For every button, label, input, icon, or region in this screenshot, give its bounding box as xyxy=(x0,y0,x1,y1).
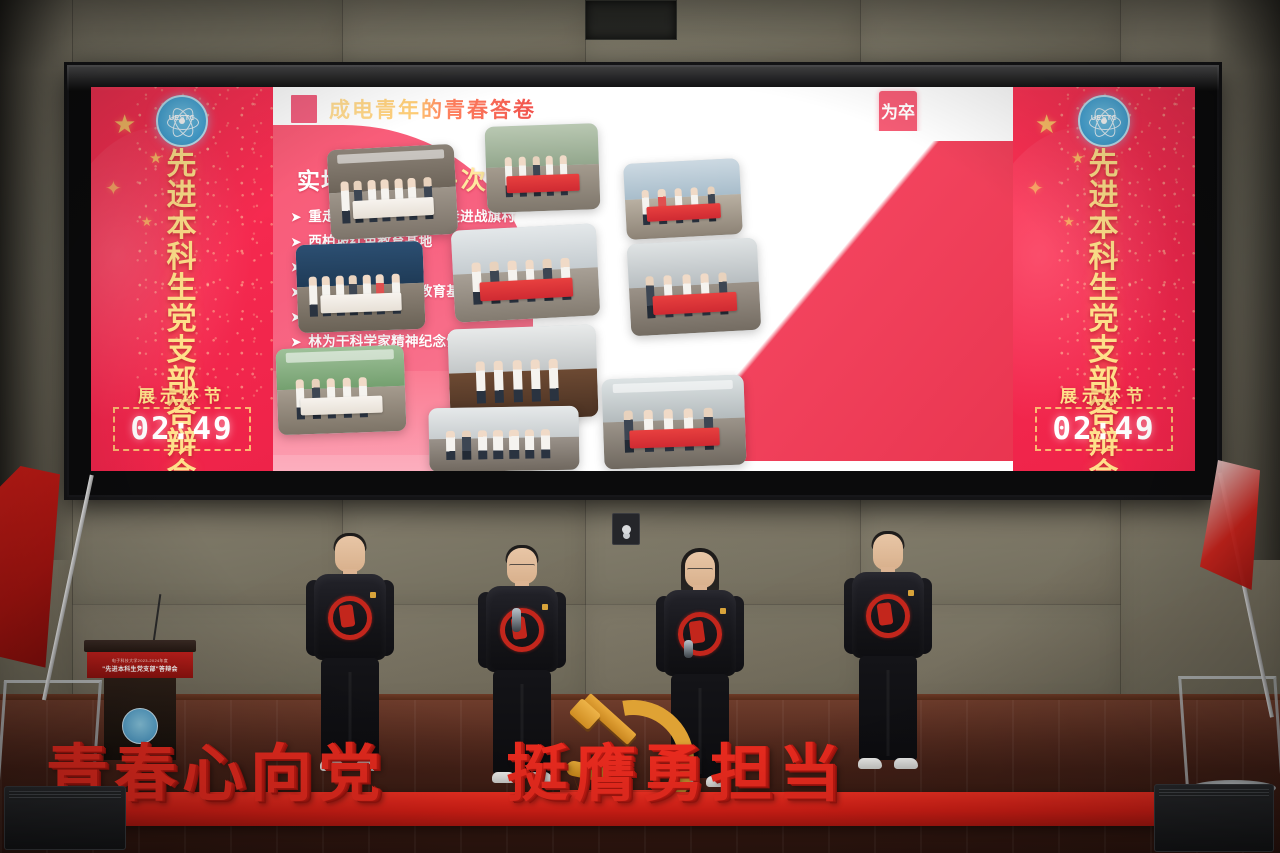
wall-camera-icon xyxy=(612,513,640,545)
uestc-logo-text: UESTC xyxy=(1080,115,1128,122)
sweatshirt-logo-icon xyxy=(500,608,544,652)
collage-photo xyxy=(485,123,601,213)
slide-header-title: 成电青年的青春答卷 xyxy=(329,94,536,124)
banner-left: ★ ★ ✦ ★ UESTC 先 进 本 科 生 党 xyxy=(91,87,273,471)
podium-sign: 电子科技大学2023-2024年度 "先进本科生党支部"答辩会 xyxy=(87,652,193,678)
collage-photo xyxy=(623,158,743,240)
collage-photo xyxy=(327,144,459,241)
photo-collage xyxy=(273,131,1013,471)
led-screen[interactable]: ★ ★ ✦ ★ UESTC 先 进 本 科 生 党 xyxy=(64,62,1222,500)
slogan-char: 当 xyxy=(778,743,840,805)
glasses-icon xyxy=(687,568,713,576)
collage-photo xyxy=(627,238,762,337)
banner-subtitle-right: 展示环节 xyxy=(1013,382,1195,407)
podium-sign-line2: "先进本科生党支部"答辩会 xyxy=(102,664,178,673)
glasses-icon xyxy=(509,564,535,572)
slogan-char: 向 xyxy=(250,743,312,805)
sweatshirt-logo-icon xyxy=(866,594,910,638)
party-pin-icon xyxy=(542,604,548,610)
stage-slogan: 青 春 心 向 党 挺 膺 勇 担 当 xyxy=(46,735,1226,805)
sweatshirt-logo-icon xyxy=(328,596,372,640)
slogan-char: 心 xyxy=(182,743,244,805)
party-pin-icon xyxy=(908,590,914,596)
banner-subtitle-left: 展示环节 xyxy=(91,382,273,407)
collage-photo xyxy=(451,223,601,322)
flag-cloth xyxy=(1200,460,1260,590)
collage-photo xyxy=(296,241,426,333)
handheld-microphone xyxy=(512,608,521,632)
slide-body: 实地研学 10+次 ➤ 重走习近平总书记足迹走进战旗村 ➤ 西柏坡红色教育基地 xyxy=(273,131,1013,471)
red-seal-icon: 为卒 xyxy=(879,91,917,135)
collage-photo xyxy=(601,375,746,470)
star-icon: ★ xyxy=(113,111,136,137)
slogan-char: 膺 xyxy=(574,743,636,805)
slogan-char: 勇 xyxy=(642,743,704,805)
ceiling-shadow xyxy=(0,0,1280,70)
party-pin-icon xyxy=(370,592,376,598)
countdown-timer-right: 02:49 xyxy=(1035,407,1173,451)
star-icon: ★ xyxy=(1035,111,1058,137)
flag-cloth xyxy=(0,466,60,676)
slogan-char: 党 xyxy=(318,743,380,805)
presentation-slide[interactable]: 成电青年的青春答卷 为卒 实地研学 10+次 ➤ 重走习近平总书记足迹走进战 xyxy=(273,87,1013,471)
header-accent-square xyxy=(291,95,317,123)
slogan-char: 担 xyxy=(710,743,772,805)
handheld-microphone xyxy=(684,640,693,658)
banner-right: ★ ★ ✦ ★ UESTC 先 进 本 科 生 党 xyxy=(1013,87,1195,471)
slide-header: 成电青年的青春答卷 为卒 xyxy=(273,87,1013,132)
timer-value: 02:49 xyxy=(130,411,233,447)
red-flag-left xyxy=(0,470,102,770)
auditorium-scene: ★ ★ ✦ ★ UESTC 先 进 本 科 生 党 xyxy=(0,0,1280,853)
collage-photo xyxy=(428,406,579,471)
countdown-timer-left: 02:49 xyxy=(113,407,251,451)
uestc-logo-text: UESTC xyxy=(158,115,206,122)
stage-speaker-right xyxy=(1154,784,1274,852)
slogan-char: 挺 xyxy=(506,743,568,805)
uestc-logo-icon: UESTC xyxy=(1078,95,1130,147)
collage-photo xyxy=(276,345,407,435)
party-pin-icon xyxy=(720,608,726,614)
stage-speaker-left xyxy=(4,786,126,850)
uestc-logo-icon: UESTC xyxy=(156,95,208,147)
timer-value: 02:49 xyxy=(1052,411,1155,447)
